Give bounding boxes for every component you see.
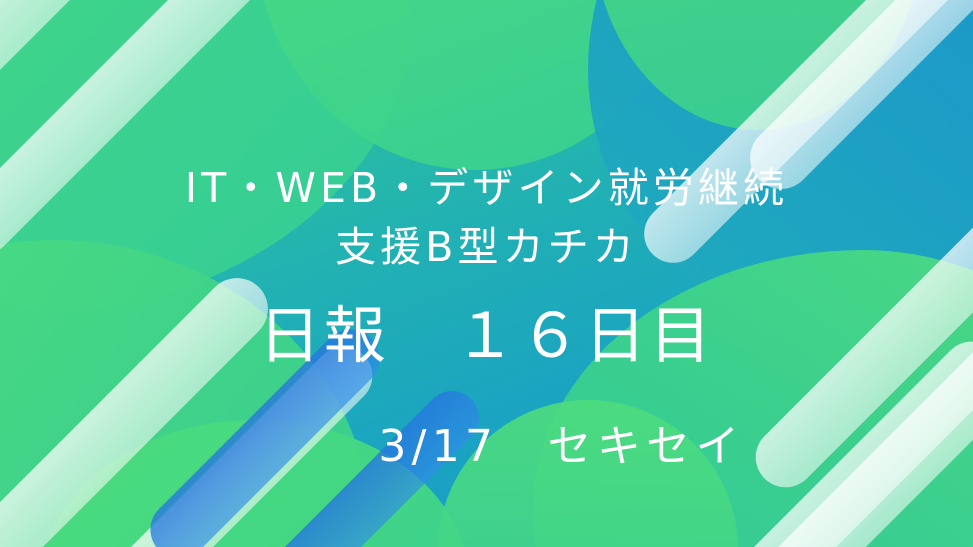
slide-content: IT・WEB・デザイン就労継続 支援B型カチカ 日報 １６日目 3/17 セキセ… <box>0 0 973 547</box>
byline-date-author: 3/17 セキセイ <box>378 421 744 474</box>
organization-line-2: 支援B型カチカ <box>335 219 638 276</box>
page-title: 日報 １６日目 <box>259 299 715 373</box>
organization-line-1: IT・WEB・デザイン就労継続 <box>185 160 788 217</box>
title-slide: IT・WEB・デザイン就労継続 支援B型カチカ 日報 １６日目 3/17 セキセ… <box>0 0 973 547</box>
